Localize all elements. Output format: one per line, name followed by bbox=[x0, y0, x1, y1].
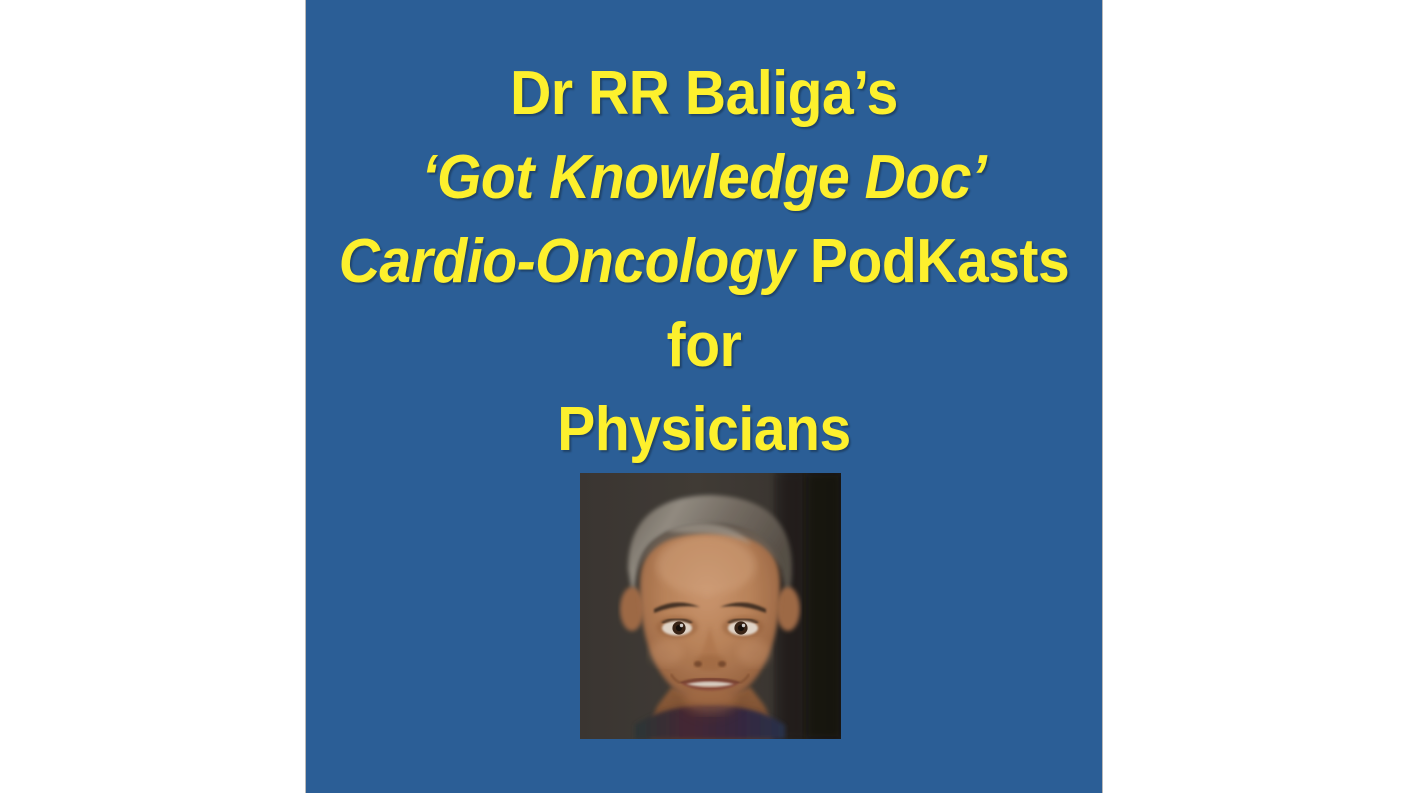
title-line-2: ‘Got Knowledge Doc’ bbox=[338, 136, 1070, 220]
portrait-photo bbox=[580, 473, 841, 739]
slide-title-block: Dr RR Baliga’s ‘Got Knowledge Doc’ Cardi… bbox=[306, 52, 1102, 472]
title-line-3-italic-segment: Cardio-Oncology bbox=[339, 227, 795, 296]
title-line-1: Dr RR Baliga’s bbox=[338, 52, 1070, 136]
title-line-5: Physicians bbox=[338, 388, 1070, 472]
slide-panel: Dr RR Baliga’s ‘Got Knowledge Doc’ Cardi… bbox=[305, 0, 1103, 793]
slide-canvas: Dr RR Baliga’s ‘Got Knowledge Doc’ Cardi… bbox=[0, 0, 1410, 793]
title-line-3-upright-segment: PodKasts bbox=[794, 227, 1069, 296]
title-line-3: Cardio-Oncology PodKasts bbox=[338, 220, 1070, 304]
title-line-4: for bbox=[338, 304, 1070, 388]
